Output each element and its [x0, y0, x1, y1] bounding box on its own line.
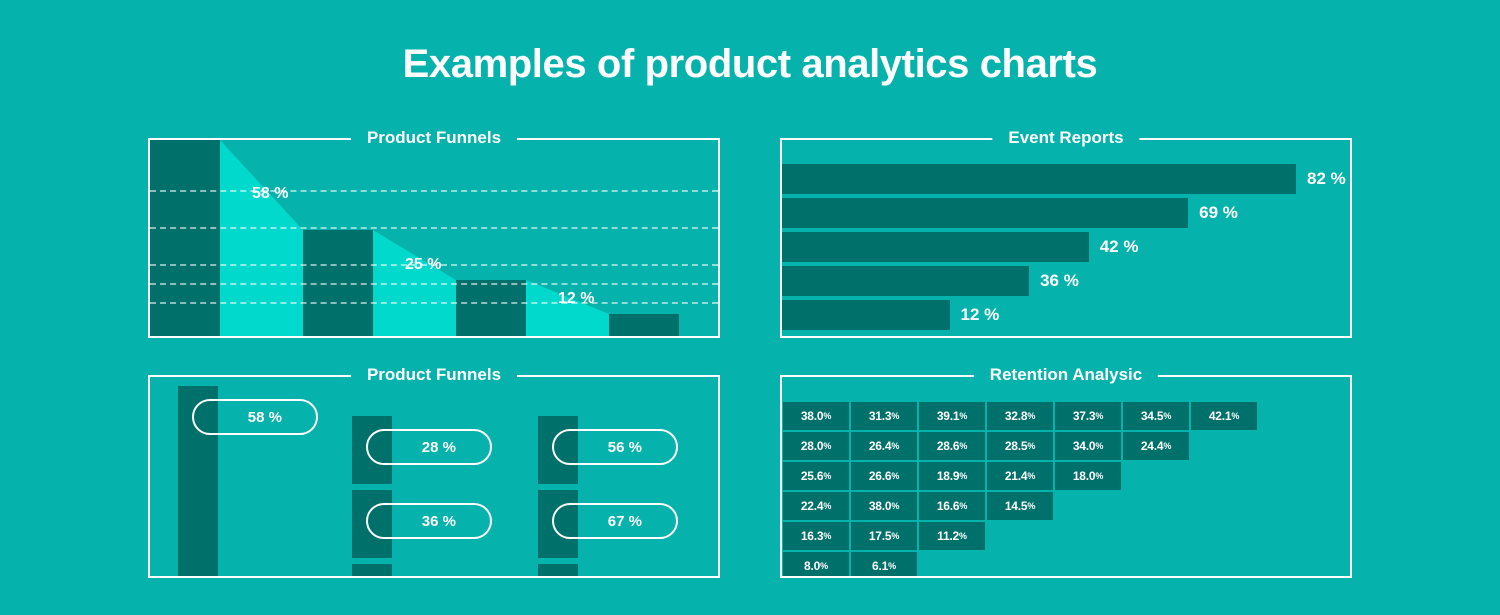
retention-cell-r6-c2[interactable]: 6.1%: [850, 551, 918, 576]
funnel-connector-3: [526, 280, 609, 336]
retention-cell-r5-c2[interactable]: 17.5%: [850, 521, 918, 551]
funnel-step-bar-3-3: [538, 564, 578, 576]
funnel-pill-2-2[interactable]: 36 %: [366, 503, 492, 539]
funnel-bar-1: [150, 140, 220, 336]
gridline-2: [150, 227, 718, 229]
retention-cell-r3-c2[interactable]: 26.6%: [850, 461, 918, 491]
retention-cell-r4-c2[interactable]: 38.0%: [850, 491, 918, 521]
retention-cell-r1-c7[interactable]: 42.1%: [1190, 401, 1258, 431]
panel-product-funnels-top: Product Funnels 58 %25 %12 %: [148, 138, 720, 338]
event-bar-label-4: 36 %: [1040, 271, 1079, 291]
funnel-value-label-1: 58 %: [252, 185, 288, 203]
retention-cell-r4-c4[interactable]: 14.5%: [986, 491, 1054, 521]
funnel-step-bar-2-3: [352, 564, 392, 576]
event-bar-label-5: 12 %: [961, 305, 1000, 325]
event-bar-3: [782, 232, 1089, 262]
funnel-value-label-2: 25 %: [405, 256, 441, 274]
funnel-pill-2-1[interactable]: 28 %: [366, 429, 492, 465]
gridline-5: [150, 302, 718, 304]
retention-cell-r5-c3[interactable]: 11.2%: [918, 521, 986, 551]
funnel-bar-3: [456, 280, 526, 336]
retention-cell-r2-c4[interactable]: 28.5%: [986, 431, 1054, 461]
panel-title-event-reports: Event Reports: [992, 128, 1139, 148]
event-bar-row: 42 %: [782, 232, 1138, 262]
retention-cell-r1-c5[interactable]: 37.3%: [1054, 401, 1122, 431]
funnel-pill-3-1[interactable]: 56 %: [552, 429, 678, 465]
event-reports-plot-area: 82 %69 %42 %36 %12 %: [782, 140, 1350, 336]
funnel-connector-1: [220, 140, 303, 336]
retention-cell-r2-c3[interactable]: 28.6%: [918, 431, 986, 461]
event-bar-label-2: 69 %: [1199, 203, 1238, 223]
event-bar-row: 36 %: [782, 266, 1079, 296]
panel-retention-analysis: Retention Analysic 38.0%31.3%39.1%32.8%3…: [780, 375, 1352, 578]
panel-title-retention-analysis: Retention Analysic: [974, 365, 1158, 385]
event-bar-label-1: 82 %: [1307, 169, 1346, 189]
retention-cell-r1-c1[interactable]: 38.0%: [782, 401, 850, 431]
gridline-1: [150, 190, 718, 192]
panel-title-product-funnels-bottom: Product Funnels: [351, 365, 517, 385]
funnel-bar-4: [609, 314, 679, 336]
retention-cell-r3-c3[interactable]: 18.9%: [918, 461, 986, 491]
retention-cell-r2-c6[interactable]: 24.4%: [1122, 431, 1190, 461]
retention-cell-r1-c4[interactable]: 32.8%: [986, 401, 1054, 431]
funnel-top-plot-area: 58 %25 %12 %: [150, 140, 718, 336]
event-bar-row: 12 %: [782, 300, 999, 330]
retention-cell-r1-c6[interactable]: 34.5%: [1122, 401, 1190, 431]
retention-cell-r1-c2[interactable]: 31.3%: [850, 401, 918, 431]
retention-cell-r4-c1[interactable]: 22.4%: [782, 491, 850, 521]
event-bar-row: 82 %: [782, 164, 1346, 194]
retention-grid-area: 38.0%31.3%39.1%32.8%37.3%34.5%42.1%28.0%…: [782, 377, 1350, 576]
retention-cell-r2-c5[interactable]: 34.0%: [1054, 431, 1122, 461]
event-bar-1: [782, 164, 1296, 194]
event-bar-2: [782, 198, 1188, 228]
funnel-pill-3-2[interactable]: 67 %: [552, 503, 678, 539]
panel-title-product-funnels-top: Product Funnels: [351, 128, 517, 148]
event-bar-5: [782, 300, 950, 330]
page-title: Examples of product analytics charts: [0, 42, 1500, 87]
event-bar-4: [782, 266, 1029, 296]
retention-cell-r2-c2[interactable]: 26.4%: [850, 431, 918, 461]
event-bar-row: 69 %: [782, 198, 1238, 228]
retention-cell-r2-c1[interactable]: 28.0%: [782, 431, 850, 461]
funnel-bottom-plot-area: 58 %28 %36 %41 %56 %67 %23 %: [150, 377, 718, 576]
retention-cell-r5-c1[interactable]: 16.3%: [782, 521, 850, 551]
funnel-value-label-3: 12 %: [558, 290, 594, 308]
retention-cell-r3-c4[interactable]: 21.4%: [986, 461, 1054, 491]
gridline-4: [150, 283, 718, 285]
event-bar-label-3: 42 %: [1100, 237, 1139, 257]
funnel-pill-1-1[interactable]: 58 %: [192, 399, 318, 435]
retention-cell-r3-c5[interactable]: 18.0%: [1054, 461, 1122, 491]
retention-cell-r6-c1[interactable]: 8.0%: [782, 551, 850, 576]
panel-product-funnels-bottom: Product Funnels 58 %28 %36 %41 %56 %67 %…: [148, 375, 720, 578]
retention-cell-r1-c3[interactable]: 39.1%: [918, 401, 986, 431]
panel-event-reports: Event Reports 82 %69 %42 %36 %12 %: [780, 138, 1352, 338]
retention-cell-r4-c3[interactable]: 16.6%: [918, 491, 986, 521]
retention-cell-r3-c1[interactable]: 25.6%: [782, 461, 850, 491]
